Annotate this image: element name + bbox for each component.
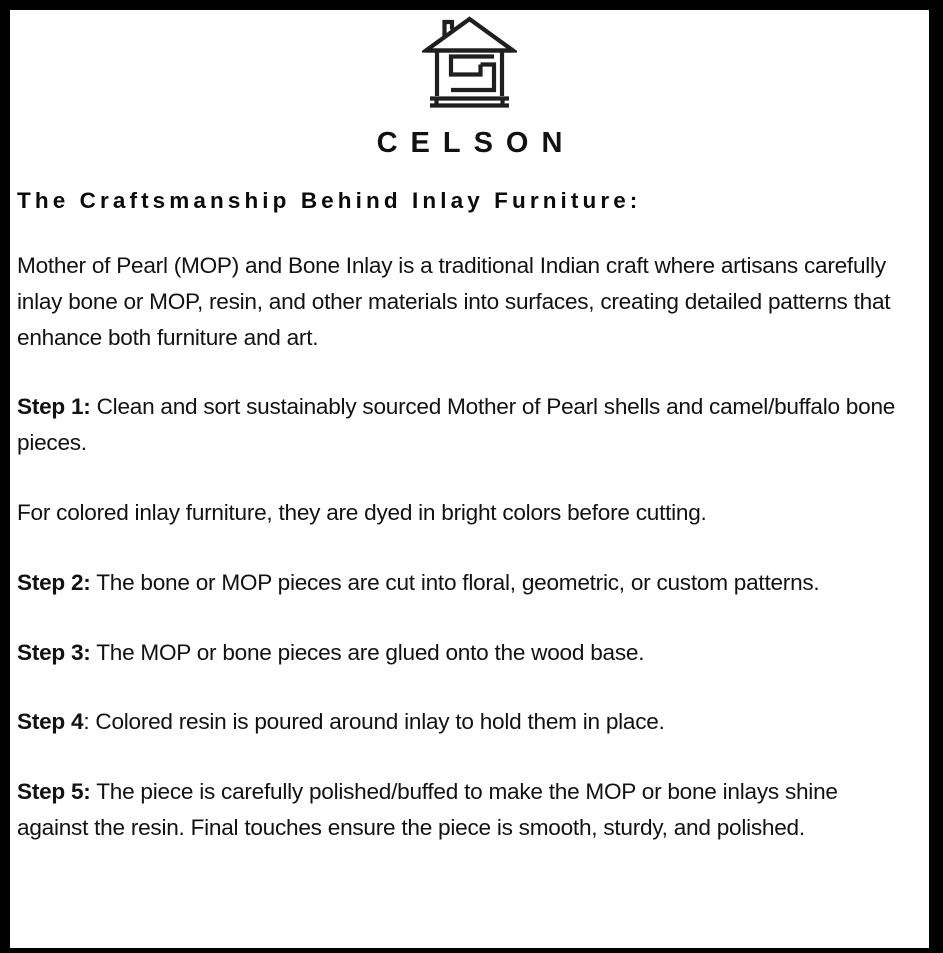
step-3-text: The MOP or bone pieces are glued onto th… [96,640,644,665]
step-1-label: Step 1: [17,394,91,419]
poster-page: CELSON The Craftsmanship Behind Inlay Fu… [0,0,943,953]
step-4-text: Colored resin is poured around inlay to … [95,709,664,734]
poster-content: CELSON The Craftsmanship Behind Inlay Fu… [10,10,929,948]
house-logo-icon [422,16,517,113]
frame-border-top [0,0,943,10]
paragraph-step-5: Step 5: The piece is carefully polished/… [17,774,907,846]
step-5-label: Step 5: [17,779,91,804]
paragraph-intro-text: Mother of Pearl (MOP) and Bone Inlay is … [17,253,890,350]
step-2-label: Step 2: [17,570,91,595]
step-4-label-rest: : [83,709,89,734]
brand-wordmark: CELSON [10,129,929,158]
step-1-text: Clean and sort sustainably sourced Mothe… [17,394,895,455]
paragraph-colored-note: For colored inlay furniture, they are dy… [17,495,907,531]
frame-border-right [929,0,943,953]
page-title: The Craftsmanship Behind Inlay Furniture… [17,187,907,214]
brand-block: CELSON [10,10,929,158]
colored-note-text: For colored inlay furniture, they are dy… [17,500,707,525]
frame-border-bottom [0,948,943,953]
step-2-text: The bone or MOP pieces are cut into flor… [96,570,819,595]
paragraph-step-4: Step 4: Colored resin is poured around i… [17,704,907,740]
paragraph-step-3: Step 3: The MOP or bone pieces are glued… [17,635,907,671]
step-3-label: Step 3: [17,640,91,665]
article-body: The Craftsmanship Behind Inlay Furniture… [10,187,929,846]
frame-border-left [0,0,10,953]
paragraph-step-1: Step 1: Clean and sort sustainably sourc… [17,389,907,461]
paragraph-step-2: Step 2: The bone or MOP pieces are cut i… [17,565,907,601]
step-4-label: Step 4 [17,709,83,734]
paragraph-intro: Mother of Pearl (MOP) and Bone Inlay is … [17,248,907,355]
step-5-text: The piece is carefully polished/buffed t… [17,779,838,840]
